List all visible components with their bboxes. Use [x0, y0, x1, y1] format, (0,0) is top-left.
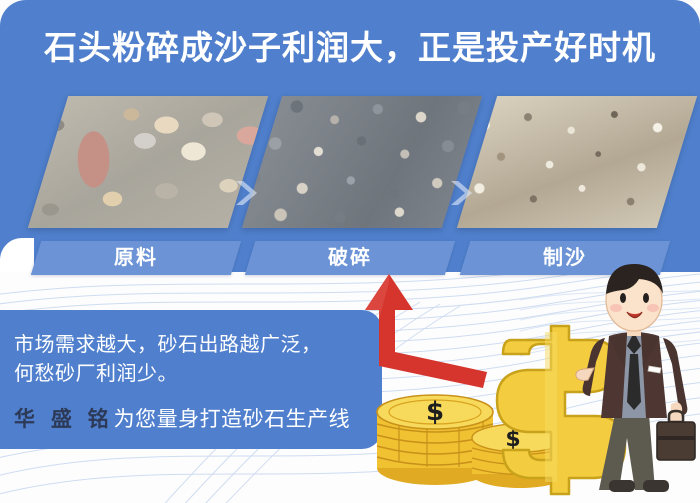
chevron-right-icon: [448, 178, 474, 208]
river-pebbles-photo: [28, 96, 268, 228]
process-step-raw-material[interactable]: 原料: [48, 96, 248, 228]
process-step-crushing[interactable]: 破碎: [262, 96, 462, 228]
crushed-gravel-photo: [242, 96, 482, 228]
message-line-2: 何愁砂厂利润少。: [14, 360, 178, 389]
brand-tagline: 华 盛 铭为您量身打造砂石生产线: [14, 405, 350, 435]
promo-banner: 石头粉碎成沙子利润大，正是投产好时机 原料 破碎 制沙: [0, 0, 700, 503]
brand-name: 华 盛 铭: [14, 408, 114, 431]
page-title: 石头粉碎成沙子利润大，正是投产好时机: [0, 25, 700, 71]
chevron-right-icon: [233, 178, 259, 208]
profit-illustration: $ $: [355, 262, 700, 503]
growth-arrow-icon: [365, 274, 487, 388]
svg-text:$: $: [426, 397, 444, 427]
manufactured-sand-photo: [457, 96, 697, 228]
brand-slogan: 为您量身打造砂石生产线: [114, 408, 351, 431]
message-line-1: 市场需求越大，砂石出路越广泛，: [14, 331, 322, 360]
process-step-label: 原料: [36, 241, 236, 275]
process-step-label-bar: 原料: [31, 241, 241, 275]
process-step-sand-making[interactable]: 制沙: [477, 96, 677, 228]
